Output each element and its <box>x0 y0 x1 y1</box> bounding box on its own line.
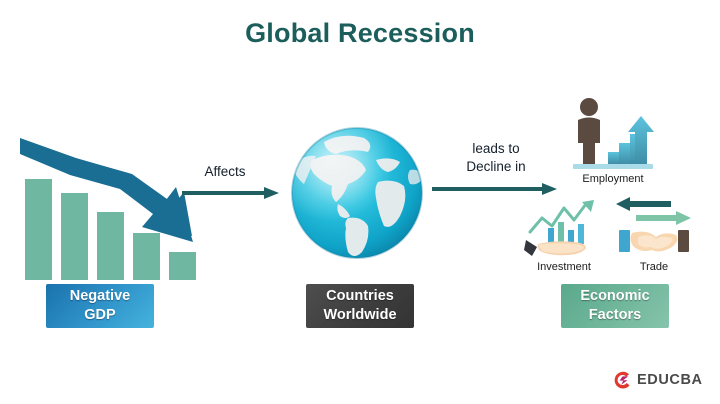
negative-gdp-label-box: Negative GDP <box>46 284 154 328</box>
infographic-canvas: Global Recession Negative GDP Affects <box>0 0 720 404</box>
declining-trend-arrow-icon <box>16 132 196 262</box>
decline-line1: leads to <box>440 140 552 158</box>
educba-logo-text: EDUCBA <box>637 372 703 388</box>
economic-factors-label-box: Economic Factors <box>561 284 669 328</box>
economic-line1: Economic <box>580 287 649 306</box>
countries-line2: Worldwide <box>323 306 396 325</box>
affects-arrow-icon <box>182 186 280 200</box>
page-title: Global Recession <box>0 18 720 49</box>
economic-line2: Factors <box>589 306 641 325</box>
investment-icon <box>524 198 604 260</box>
countries-line1: Countries <box>326 287 394 306</box>
employment-icon <box>570 96 656 174</box>
decline-arrow-icon <box>432 182 558 196</box>
negative-gdp-line1: Negative <box>70 287 130 306</box>
investment-caption: Investment <box>512 261 616 273</box>
decline-line2: Decline in <box>440 158 552 176</box>
affects-label: Affects <box>182 163 268 181</box>
globe-icon <box>290 126 424 260</box>
trade-icon <box>616 197 692 260</box>
decline-label: leads to Decline in <box>440 140 552 175</box>
educba-logo[interactable]: EDUCBA <box>612 370 703 390</box>
countries-worldwide-label-box: Countries Worldwide <box>306 284 414 328</box>
employment-caption: Employment <box>558 173 668 185</box>
trade-caption: Trade <box>618 261 690 273</box>
educba-circle-logo-icon <box>612 370 632 390</box>
negative-gdp-line2: GDP <box>84 306 115 325</box>
